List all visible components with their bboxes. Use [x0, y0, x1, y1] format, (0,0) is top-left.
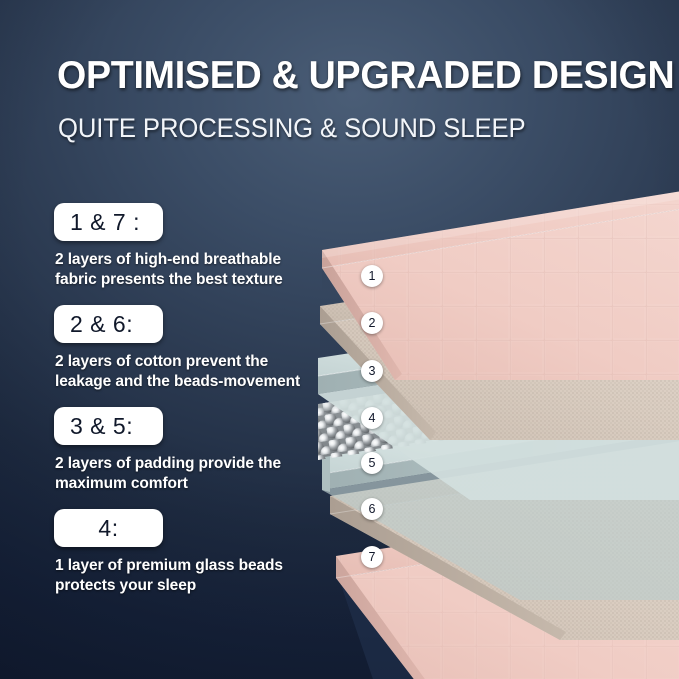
page-title: OPTIMISED & UPGRADED DESIGN — [57, 54, 674, 98]
callout-item-2: 2 & 6: 2 layers of cotton prevent the le… — [54, 305, 324, 391]
callout-item-3: 3 & 5: 2 layers of padding provide the m… — [54, 407, 324, 493]
layer-badge-1: 1 — [361, 265, 383, 287]
layer-badge-5: 5 — [361, 452, 383, 474]
layer-badge-2: 2 — [361, 312, 383, 334]
layer-badge-3: 3 — [361, 360, 383, 382]
callout-description-2: 2 layers of cotton prevent the leakage a… — [55, 352, 317, 391]
callout-description-3: 2 layers of padding provide the maximum … — [55, 454, 317, 493]
layer-badge-6: 6 — [361, 498, 383, 520]
callout-description-4: 1 layer of premium glass beads protects … — [55, 556, 317, 595]
callout-pill-2: 2 & 6: — [54, 305, 163, 343]
callout-list: 1 & 7 : 2 layers of high-end breathable … — [54, 203, 324, 611]
infographic-canvas: OPTIMISED & UPGRADED DESIGN QUITE PROCES… — [0, 0, 679, 679]
header-block: OPTIMISED & UPGRADED DESIGN QUITE PROCES… — [57, 54, 679, 143]
callout-item-1: 1 & 7 : 2 layers of high-end breathable … — [54, 203, 324, 289]
layer-badge-7: 7 — [361, 546, 383, 568]
callout-pill-4: 4: — [54, 509, 163, 547]
callout-pill-3: 3 & 5: — [54, 407, 163, 445]
layer-badge-4: 4 — [361, 407, 383, 429]
page-subtitle: QUITE PROCESSING & SOUND SLEEP — [58, 113, 665, 143]
callout-item-4: 4: 1 layer of premium glass beads protec… — [54, 509, 324, 595]
callout-description-1: 2 layers of high-end breathable fabric p… — [55, 250, 317, 289]
callout-pill-1: 1 & 7 : — [54, 203, 163, 241]
